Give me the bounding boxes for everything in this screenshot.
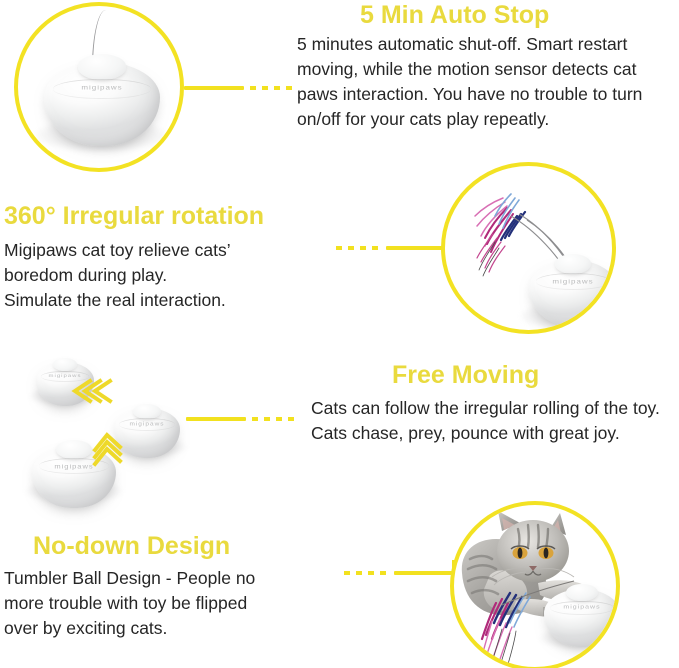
feature-body-line: Migipaws cat toy relieve cats’ [4, 238, 324, 263]
feature-title-free-moving: Free Moving [392, 362, 539, 390]
feature-body-line: more trouble with toy be flipped [4, 591, 324, 616]
feature-image-no-down-design: migipaws [450, 501, 620, 668]
ball-brand-engraving: migipaws [529, 277, 612, 284]
feature-body-line: Tumbler Ball Design - People no [4, 566, 324, 591]
feature-title-irregular-rotation: 360° Irregular rotation [4, 203, 264, 231]
ball-brand-engraving: migipaws [114, 421, 180, 427]
tumbler-ball: migipaws [529, 260, 612, 326]
product-feature-infographic: migipaws 5 Min Auto Stop 5 minutes autom… [0, 0, 679, 668]
photo-inner-cat-playing: migipaws [454, 505, 616, 667]
feature-body-line: over by exciting cats. [4, 616, 324, 641]
feature-body-five-min-auto-stop: 5 minutes automatic shut-off. Smart rest… [297, 32, 670, 131]
connector-free-moving [186, 412, 298, 426]
feature-image-free-moving: migipaws migipaws migipaws [10, 350, 210, 510]
photo-inner-ball-antenna: migipaws [18, 6, 180, 168]
feature-body-line: boredom during play. [4, 263, 324, 288]
connector-irregular-rotation [336, 241, 452, 255]
feature-body-irregular-rotation: Migipaws cat toy relieve cats’ boredom d… [4, 238, 324, 313]
connector-five-min-auto-stop [184, 81, 296, 95]
feature-title-five-min-auto-stop: 5 Min Auto Stop [360, 2, 549, 30]
feature-image-five-min-auto-stop: migipaws [14, 2, 184, 172]
feature-body-free-moving: Cats can follow the irregular rolling of… [311, 396, 671, 446]
connector-no-down-design [344, 566, 460, 580]
feature-image-irregular-rotation: migipaws [441, 162, 616, 334]
ball-brand-engraving: migipaws [544, 604, 616, 610]
feature-title-no-down-design: No-down Design [33, 533, 230, 561]
feature-body-no-down-design: Tumbler Ball Design - People no more tro… [4, 566, 324, 641]
ball-brand-engraving: migipaws [44, 84, 160, 91]
tumbler-ball: migipaws [544, 589, 616, 647]
motion-chevron-arrows-upper-icon [70, 378, 114, 408]
feature-body-line: Simulate the real interaction. [4, 288, 324, 313]
ball-brand-engraving: migipaws [32, 462, 116, 469]
photo-inner-feather-ball: migipaws [445, 166, 612, 330]
motion-chevron-arrows-lower-icon [90, 430, 134, 460]
